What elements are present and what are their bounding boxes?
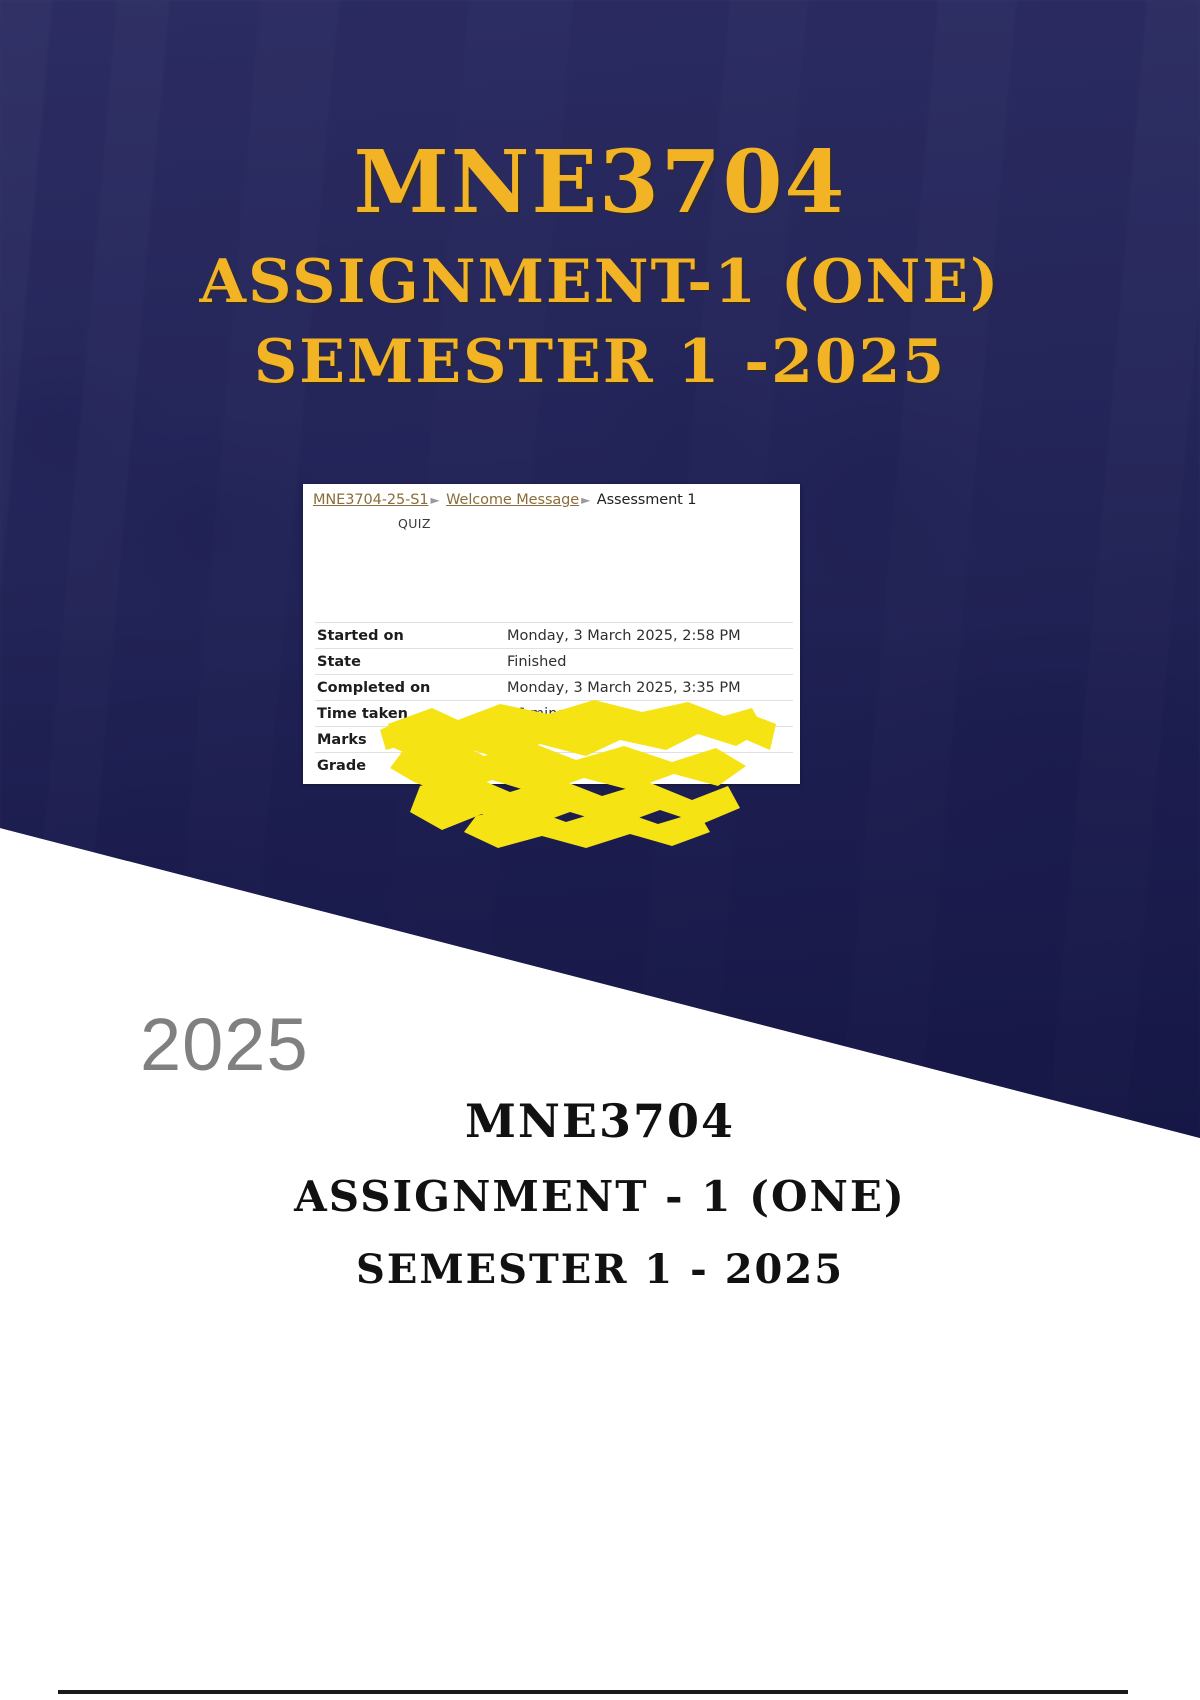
row-value-grade: 100.00 out of 100.00 (505, 753, 793, 779)
grade-suffix: out of 100.00 (568, 758, 666, 774)
quiz-subtitle: QUIZ (398, 516, 800, 531)
breadcrumb-separator-icon-2: ► (579, 493, 592, 507)
row-value: Finished (505, 649, 793, 675)
row-key: Started on (315, 623, 505, 649)
row-value: Monday, 3 March 2025, 2:58 PM (505, 623, 793, 649)
breadcrumb: MNE3704-25-S1► Welcome Message► Assessme… (303, 484, 800, 508)
table-row: Completed on Monday, 3 March 2025, 3:35 … (315, 675, 793, 701)
quiz-summary-table: Started on Monday, 3 March 2025, 2:58 PM… (315, 622, 793, 778)
table-row: Started on Monday, 3 March 2025, 2:58 PM (315, 623, 793, 649)
row-key: Marks (315, 727, 505, 753)
row-key: Completed on (315, 675, 505, 701)
row-value: Monday, 3 March 2025, 3:35 PM (505, 675, 793, 701)
gold-title-semester: SEMESTER 1 -2025 (0, 332, 1200, 392)
table-row: State Finished (315, 649, 793, 675)
table-row: Grade 100.00 out of 100.00 (315, 753, 793, 779)
gold-title-assignment: ASSIGNMENT-1 (ONE) (0, 252, 1200, 312)
row-key: State (315, 649, 505, 675)
black-title-course-code: MNE3704 (0, 1098, 1200, 1144)
breadcrumb-item-assessment-1: Assessment 1 (597, 492, 697, 508)
table-row: Time taken 36 mins 56 secs (315, 701, 793, 727)
quiz-result-card: MNE3704-25-S1► Welcome Message► Assessme… (303, 484, 800, 784)
gold-title-block: MNE3704 ASSIGNMENT-1 (ONE) SEMESTER 1 -2… (0, 140, 1200, 392)
grade-bold-value: 100.00 (507, 758, 563, 774)
black-title-semester: SEMESTER 1 - 2025 (0, 1250, 1200, 1290)
row-key: Time taken (315, 701, 505, 727)
table-row: Marks 15.00/15.00 (315, 727, 793, 753)
breadcrumb-item-course[interactable]: MNE3704-25-S1 (313, 492, 428, 508)
breadcrumb-separator-icon: ► (428, 493, 441, 507)
row-value: 15.00/15.00 (505, 727, 793, 753)
cover-page: MNE3704 ASSIGNMENT-1 (ONE) SEMESTER 1 -2… (0, 0, 1200, 1700)
row-key: Grade (315, 753, 505, 779)
breadcrumb-item-welcome-message[interactable]: Welcome Message (446, 492, 579, 508)
black-title-block: MNE3704 ASSIGNMENT - 1 (ONE) SEMESTER 1 … (0, 1098, 1200, 1290)
gold-title-course-code: MNE3704 (0, 140, 1200, 226)
row-value: 36 mins 56 secs (505, 701, 793, 727)
footer-divider (58, 1690, 1128, 1694)
year-label: 2025 (140, 1002, 309, 1087)
black-title-assignment: ASSIGNMENT - 1 (ONE) (0, 1176, 1200, 1218)
